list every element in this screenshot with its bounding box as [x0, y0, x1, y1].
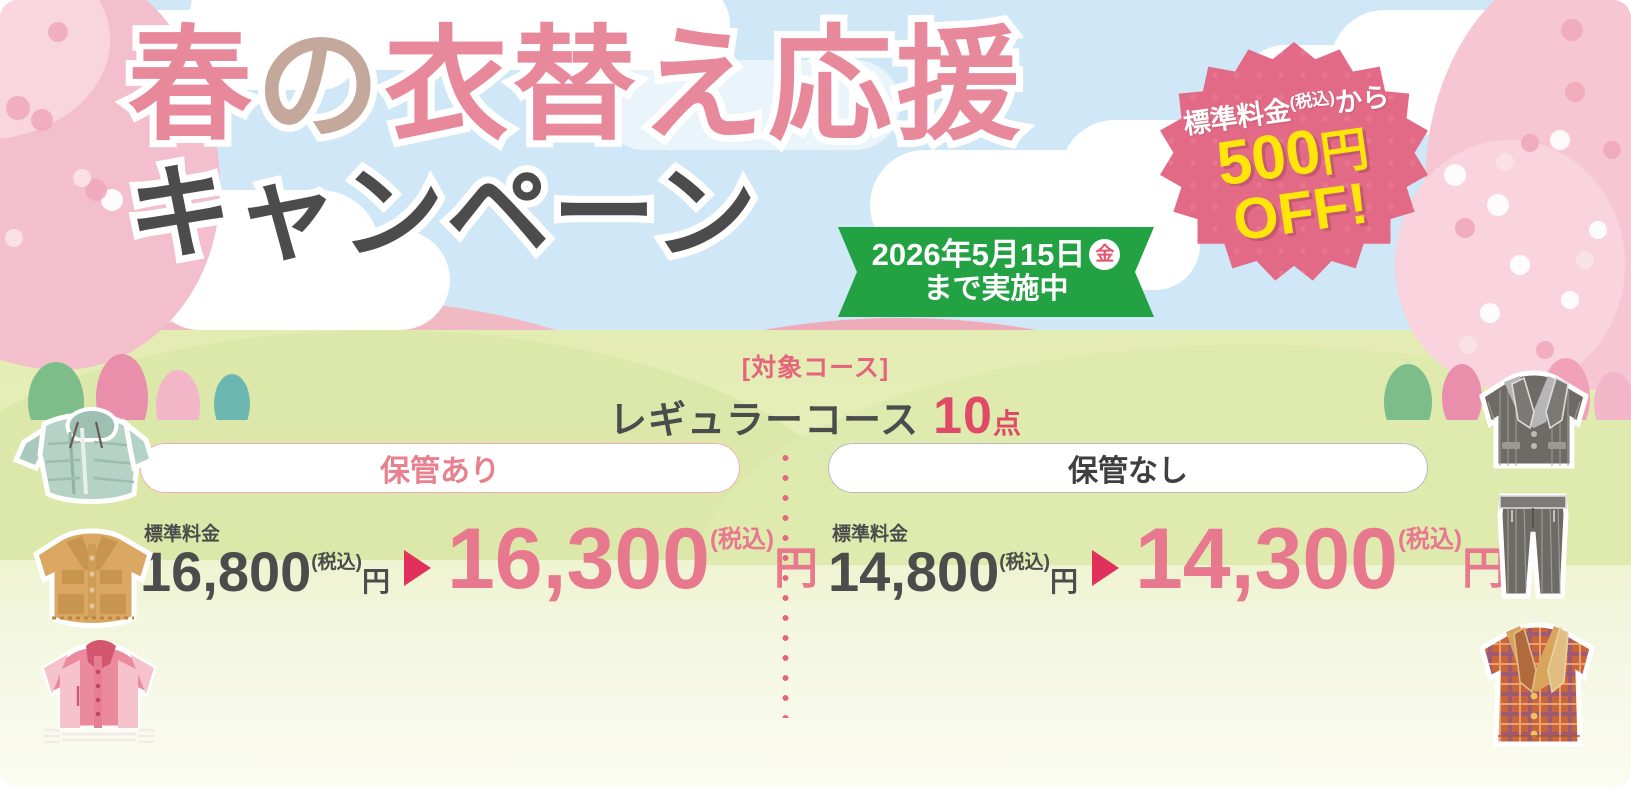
- discounted-price-tax-note: (税込): [710, 519, 774, 554]
- original-price-block: 標準料金 14,800(税込)円: [828, 523, 1078, 598]
- course-quantity-unit: 点: [993, 408, 1022, 439]
- discounted-price-block: 16,300(税込)円: [447, 519, 818, 598]
- plan-label-with-storage[interactable]: 保管あり: [140, 443, 740, 493]
- course-quantity: 10点: [933, 386, 1022, 446]
- discounted-price-block: 14,300(税込)円: [1135, 519, 1506, 598]
- price-row-with-storage: 標準料金 16,800(税込)円 16,300(税込)円: [140, 519, 740, 598]
- original-price-block: 標準料金 16,800(税込)円: [140, 523, 390, 598]
- original-price-value-row: 14,800(税込)円: [828, 545, 1078, 598]
- ribbon-period: まで実施中: [923, 272, 1068, 307]
- discount-badge-content: 標準料金(税込)から 500円 OFF!: [1144, 25, 1444, 306]
- discounted-price-yen: 円: [774, 532, 818, 596]
- weekday-badge: 金: [1089, 239, 1120, 270]
- price-arrow-icon: [1092, 550, 1119, 586]
- suit-jacket-icon: [1468, 362, 1598, 480]
- corduroy-jacket-icon: [22, 518, 162, 636]
- plan-with-storage: 保管あり 標準料金 16,800(税込)円 16,300(税込)円: [140, 443, 740, 598]
- plan-label-without-storage[interactable]: 保管なし: [828, 443, 1428, 493]
- badge-suffix: から: [1333, 82, 1391, 119]
- target-course-section: [対象コース] レギュラーコース 10点: [0, 348, 1631, 446]
- plan-without-storage: 保管なし 標準料金 14,800(税込)円 14,300(税込)円: [828, 443, 1428, 598]
- varsity-jacket-icon: [30, 630, 166, 750]
- trousers-icon: [1478, 488, 1588, 606]
- original-price-value: 16,800: [140, 545, 311, 598]
- original-price-tax-note: (税込): [999, 554, 1050, 572]
- title-line-1: 春の衣替え応援: [128, 24, 1138, 148]
- badge-tax-note: (税込): [1288, 88, 1336, 113]
- original-price-value: 14,800: [828, 545, 999, 598]
- title-no: の: [256, 17, 384, 155]
- discounted-price-tax-note: (税込): [1398, 519, 1462, 554]
- course-name: レギュラーコース: [609, 389, 919, 444]
- ribbon-date-row: 2026年5月15日 金: [872, 237, 1121, 273]
- title-koromogae-ouen: 衣替え応援: [384, 17, 1024, 155]
- target-course-tag: [対象コース]: [0, 348, 1631, 384]
- discount-badge: 標準料金(税込)から 500円 OFF!: [1160, 42, 1428, 288]
- discounted-price-value: 16,300: [447, 521, 710, 598]
- price-arrow-icon: [404, 550, 431, 586]
- original-price-value-row: 16,800(税込)円: [140, 545, 390, 598]
- course-quantity-value: 10: [933, 387, 993, 445]
- original-price-yen: 円: [362, 569, 390, 596]
- original-price-tax-note: (税込): [311, 554, 362, 572]
- campaign-period-ribbon: 2026年5月15日 金 まで実施中: [838, 227, 1154, 317]
- title-haru: 春: [128, 17, 256, 155]
- original-price-yen: 円: [1050, 569, 1078, 596]
- puffer-jacket-icon: [8, 398, 158, 518]
- course-name-row: レギュラーコース 10点: [0, 386, 1631, 446]
- plaid-coat-icon: [1468, 612, 1608, 758]
- discounted-price-value: 14,300: [1135, 521, 1398, 598]
- standard-price-label: 標準料金: [832, 519, 908, 546]
- campaign-banner: 春の衣替え応援 キャンペーン 2026年5月15日 金 まで実施中 標準料金(税…: [0, 0, 1631, 788]
- price-row-without-storage: 標準料金 14,800(税込)円 14,300(税込)円: [828, 519, 1428, 598]
- ribbon-date: 2026年5月15日: [872, 237, 1086, 273]
- badge-off-label: OFF!: [1230, 175, 1372, 250]
